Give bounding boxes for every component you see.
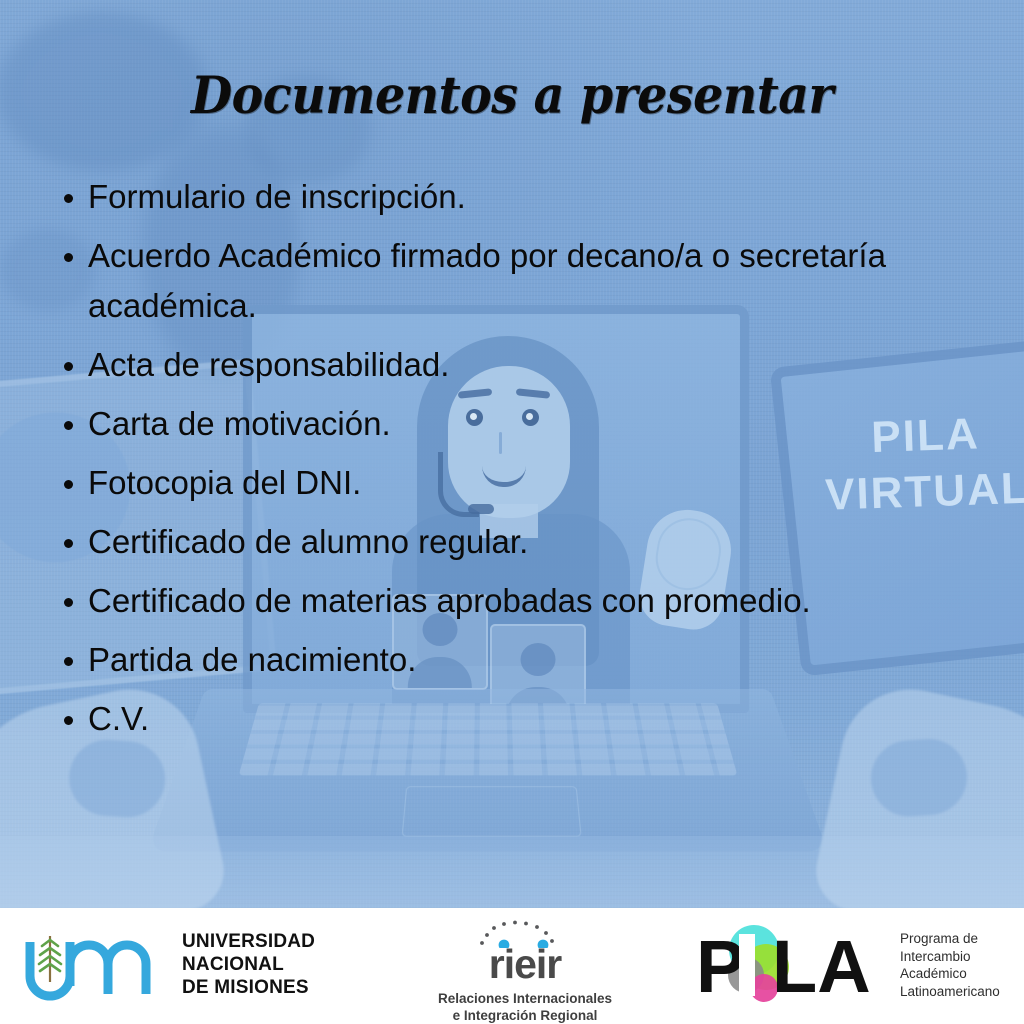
documents-list: Formulario de inscripción. Acuerdo Acadé… (58, 172, 1008, 753)
unam-line-1: UNIVERSIDAD (182, 930, 315, 953)
list-item: C.V. (58, 694, 1008, 744)
list-item: Partida de nacimiento. (58, 635, 1008, 685)
rieir-logo: rieir Relaciones Internacionales e Integ… (425, 918, 625, 1024)
list-item: Certificado de alumno regular. (58, 517, 1008, 567)
pila-letter-i-bar (739, 934, 755, 996)
list-item: Carta de motivación. (58, 399, 1008, 449)
pila-tagline-line-1: Programa de (900, 930, 1000, 948)
pila-tagline-line-2: Intercambio (900, 948, 1000, 966)
unam-logo: UNIVERSIDAD NACIONAL DE MISIONES (18, 924, 315, 1004)
footer-logo-bar: UNIVERSIDAD NACIONAL DE MISIONES (0, 908, 1024, 1024)
poster-content: Documentos a presentar Formulario de ins… (0, 0, 1024, 908)
pila-tagline-line-3: Académico (900, 965, 1000, 983)
svg-text:P: P (696, 925, 745, 1008)
rieir-wordmark: rieir (425, 944, 625, 985)
poster-canvas: PILA VIRTUAL Documentos a presentar Form… (0, 0, 1024, 1024)
page-title: Documentos a presentar (36, 66, 988, 126)
pila-tagline: Programa de Intercambio Académico Latino… (900, 930, 1000, 1000)
list-item: Acta de responsabilidad. (58, 340, 1008, 390)
rieir-tagline-line-1: Relaciones Internacionales (425, 990, 625, 1007)
svg-text:LA: LA (772, 925, 871, 1008)
pila-mark-icon: P LA (694, 922, 890, 1008)
unam-line-2: NACIONAL (182, 953, 315, 976)
unam-wordmark: UNIVERSIDAD NACIONAL DE MISIONES (182, 930, 315, 999)
list-item: Certificado de materias aprobadas con pr… (58, 576, 1008, 626)
rieir-tagline-line-2: e Integración Regional (425, 1007, 625, 1024)
list-item: Fotocopia del DNI. (58, 458, 1008, 508)
unam-line-3: DE MISIONES (182, 976, 315, 999)
pila-logo: P LA Programa de Intercambio Académico L… (694, 922, 1000, 1008)
unam-mark-icon (18, 924, 168, 1004)
list-item: Formulario de inscripción. (58, 172, 1008, 222)
pila-tagline-line-4: Latinoamericano (900, 983, 1000, 1001)
list-item: Acuerdo Académico firmado por decano/a o… (58, 231, 1008, 331)
rieir-tagline: Relaciones Internacionales e Integración… (425, 990, 625, 1024)
